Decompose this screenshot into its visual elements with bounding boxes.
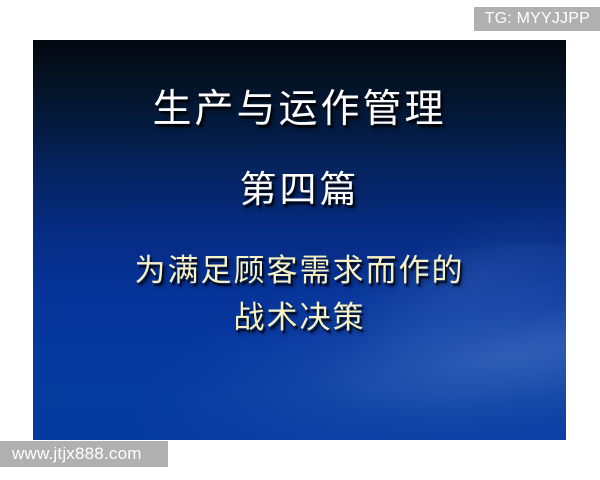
slide-subtitle-line-2: 战术决策 (33, 302, 566, 335)
slide-subtitle-line-1: 为满足顾客需求而作的 (33, 255, 566, 288)
telegram-watermark-badge: TG: MYYJJPP (474, 7, 600, 31)
page-canvas: 生产与运作管理 第四篇 为满足顾客需求而作的 战术决策 TG: MYYJJPP … (0, 0, 600, 480)
slide-part-number: 第四篇 (33, 172, 566, 211)
presentation-slide: 生产与运作管理 第四篇 为满足顾客需求而作的 战术决策 (33, 40, 566, 440)
slide-title: 生产与运作管理 (33, 90, 566, 131)
site-watermark-badge: www.jtjx888.com (0, 441, 168, 467)
